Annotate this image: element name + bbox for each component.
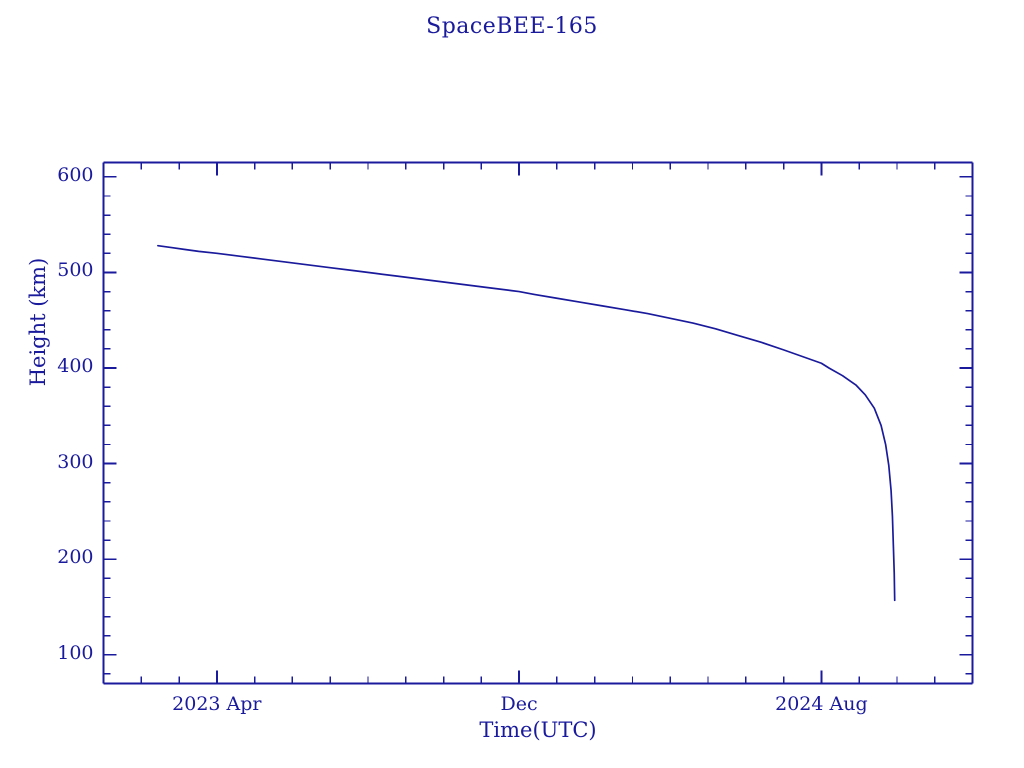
y-axis-tick-label: 100 (6, 642, 94, 664)
y-axis-tick-label: 500 (6, 259, 94, 281)
y-axis-tick-label: 300 (6, 451, 94, 473)
y-axis-tick-label: 200 (6, 546, 94, 568)
y-axis-ticks (104, 177, 973, 674)
x-axis-tick-label: 2024 Aug (721, 693, 921, 715)
data-series (158, 246, 895, 601)
axis-frame (104, 163, 973, 684)
x-axis-tick-label: Dec (419, 693, 619, 715)
y-axis-tick-label: 400 (6, 355, 94, 377)
x-axis-tick-label: 2023 Apr (117, 693, 317, 715)
plot-area (0, 0, 1024, 768)
y-axis-tick-label: 600 (6, 164, 94, 186)
chart-figure: SpaceBEE-165 Height (km) Time(UTC) 10020… (0, 0, 1024, 768)
x-axis-ticks (104, 163, 935, 684)
